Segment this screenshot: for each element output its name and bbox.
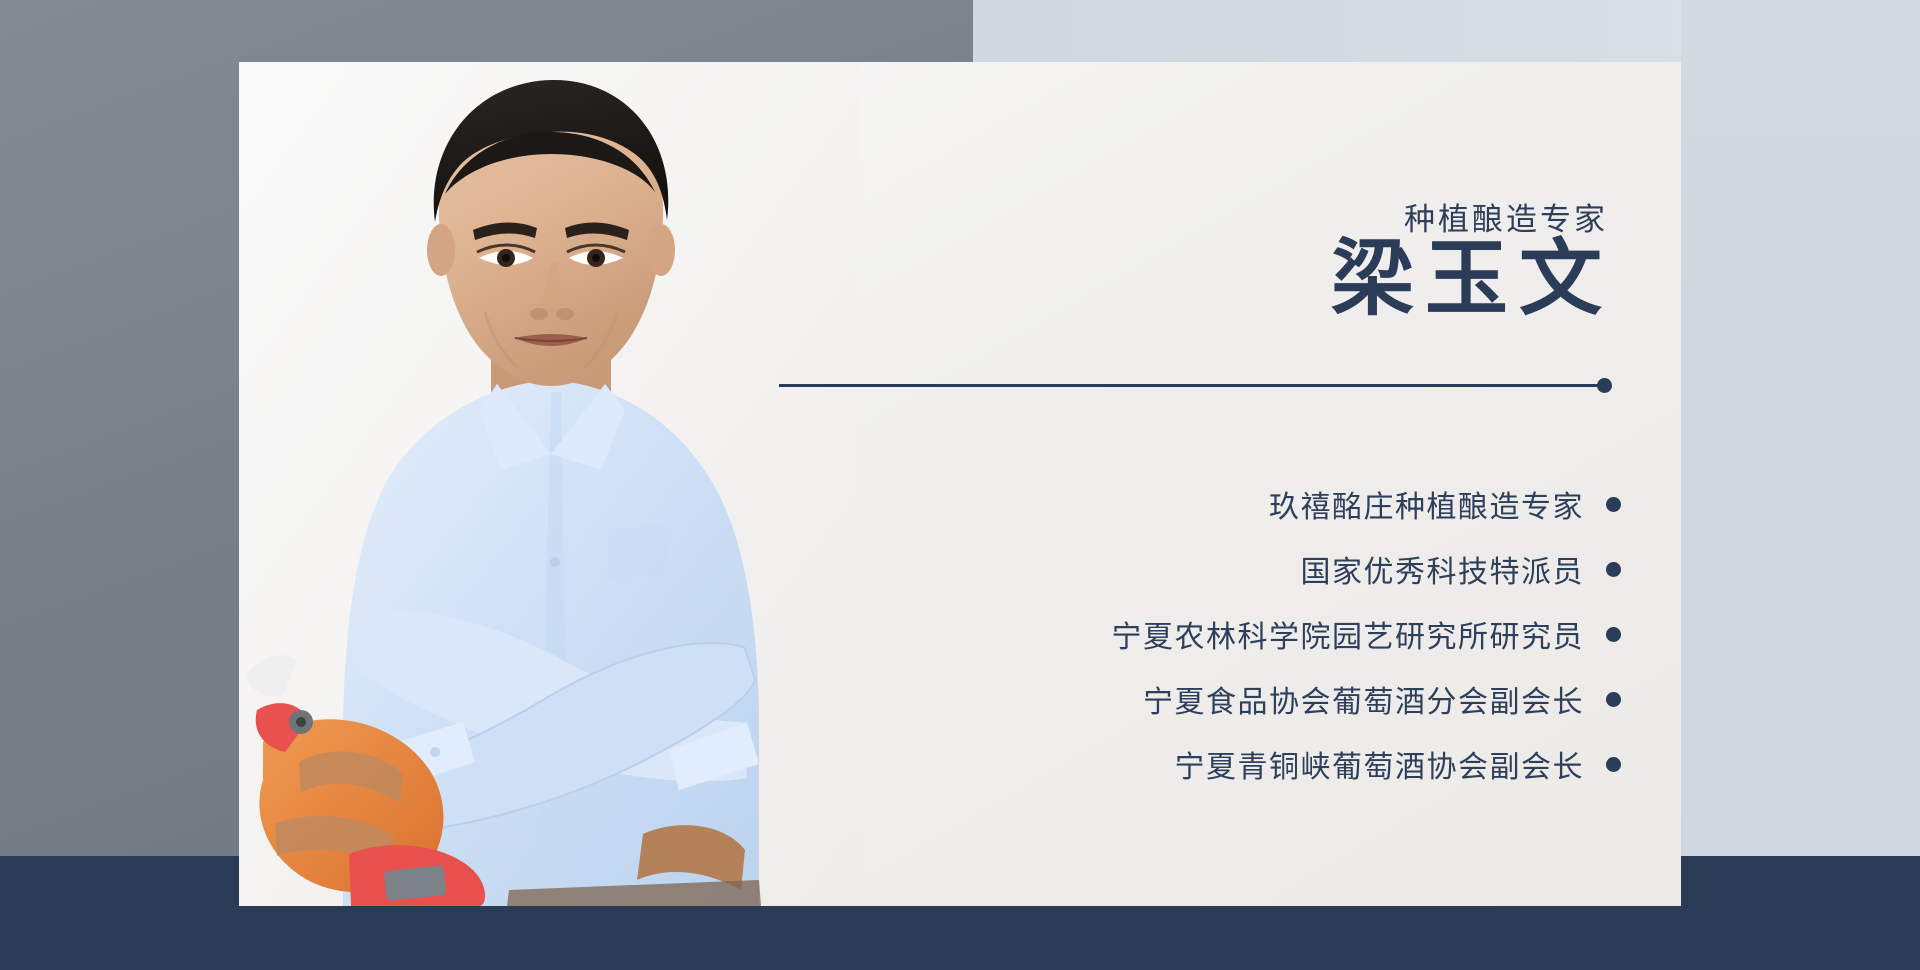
expert-portrait-photo — [239, 62, 859, 906]
credential-text: 宁夏食品协会葡萄酒分会副会长 — [1143, 677, 1584, 721]
bullet-dot-icon — [1606, 497, 1621, 512]
credential-text: 宁夏农林科学院园艺研究所研究员 — [1112, 612, 1585, 656]
profile-card: 种植酿造专家 梁玉文 玖禧酩庄种植酿造专家 国家优秀科技特派员 宁夏农林科学院园… — [239, 62, 1681, 906]
credentials-list: 玖禧酩庄种植酿造专家 国家优秀科技特派员 宁夏农林科学院园艺研究所研究员 宁夏食… — [881, 477, 1621, 802]
list-item: 国家优秀科技特派员 — [881, 542, 1621, 596]
expert-info-column: 种植酿造专家 梁玉文 玖禧酩庄种植酿造专家 国家优秀科技特派员 宁夏农林科学院园… — [879, 62, 1681, 906]
credential-text: 宁夏青铜峡葡萄酒协会副会长 — [1175, 742, 1585, 786]
title-divider-line — [779, 384, 1601, 387]
bullet-dot-icon — [1606, 562, 1621, 577]
list-item: 宁夏农林科学院园艺研究所研究员 — [881, 607, 1621, 661]
background-bluegray-right-column — [1681, 0, 1920, 856]
credential-text: 国家优秀科技特派员 — [1301, 547, 1585, 591]
credential-text: 玖禧酩庄种植酿造专家 — [1269, 482, 1584, 526]
list-item: 宁夏食品协会葡萄酒分会副会长 — [881, 672, 1621, 726]
expert-profile-banner: 种植酿造专家 梁玉文 玖禧酩庄种植酿造专家 国家优秀科技特派员 宁夏农林科学院园… — [0, 0, 1920, 970]
expert-name: 梁玉文 — [1331, 234, 1613, 325]
bullet-dot-icon — [1606, 692, 1621, 707]
bullet-dot-icon — [1606, 627, 1621, 642]
divider-end-dot-icon — [1597, 378, 1612, 393]
list-item: 玖禧酩庄种植酿造专家 — [881, 477, 1621, 531]
bullet-dot-icon — [1606, 757, 1621, 772]
list-item: 宁夏青铜峡葡萄酒协会副会长 — [881, 737, 1621, 791]
